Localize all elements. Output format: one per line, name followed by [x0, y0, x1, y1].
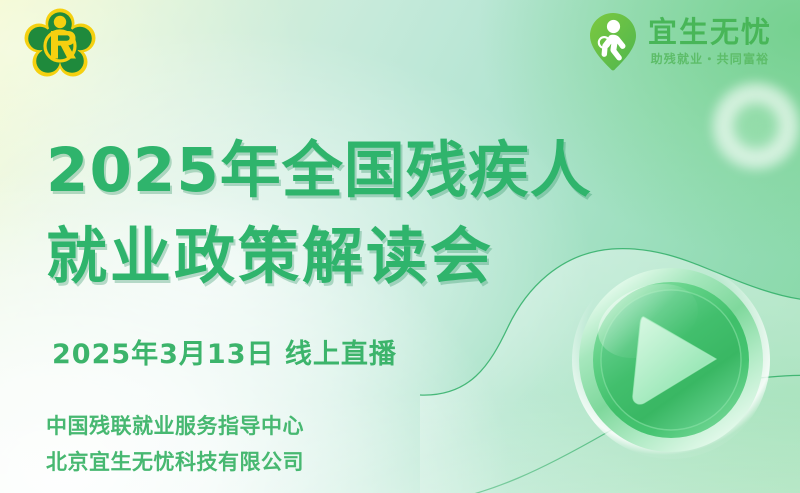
title-line-2: 就业政策解读会 — [46, 214, 592, 300]
title-line-1: 2025年全国残疾人 — [46, 128, 592, 214]
bubble-glow-icon — [711, 81, 800, 171]
organizer-block: 中国残联就业服务指导中心 北京宜生无忧科技有限公司 — [46, 408, 304, 480]
play-triangle-icon[interactable] — [570, 259, 772, 461]
cdpf-emblem — [24, 7, 96, 79]
play-button-graphic[interactable] — [570, 259, 772, 461]
organizer-line-1: 中国残联就业服务指导中心 — [46, 408, 304, 444]
organizer-line-2: 北京宜生无忧科技有限公司 — [46, 444, 304, 480]
brand-tagline: 助残就业・共同富裕 — [651, 50, 770, 67]
yishengwuyou-logo: 宜生无忧 助残就业・共同富裕 — [587, 10, 772, 74]
brand-text-block: 宜生无忧 助残就业・共同富裕 — [648, 17, 772, 68]
flower-emblem-icon — [24, 7, 96, 79]
brand-name: 宜生无忧 — [648, 17, 772, 48]
live-event-poster: 宜生无忧 助残就业・共同富裕 2025年全国残疾人 就业政策解读会 2025年3… — [0, 0, 800, 493]
page-title: 2025年全国残疾人 就业政策解读会 — [46, 128, 592, 300]
location-pin-runner-icon — [587, 11, 639, 73]
event-subtitle: 2025年3月13日 线上直播 — [52, 332, 397, 371]
